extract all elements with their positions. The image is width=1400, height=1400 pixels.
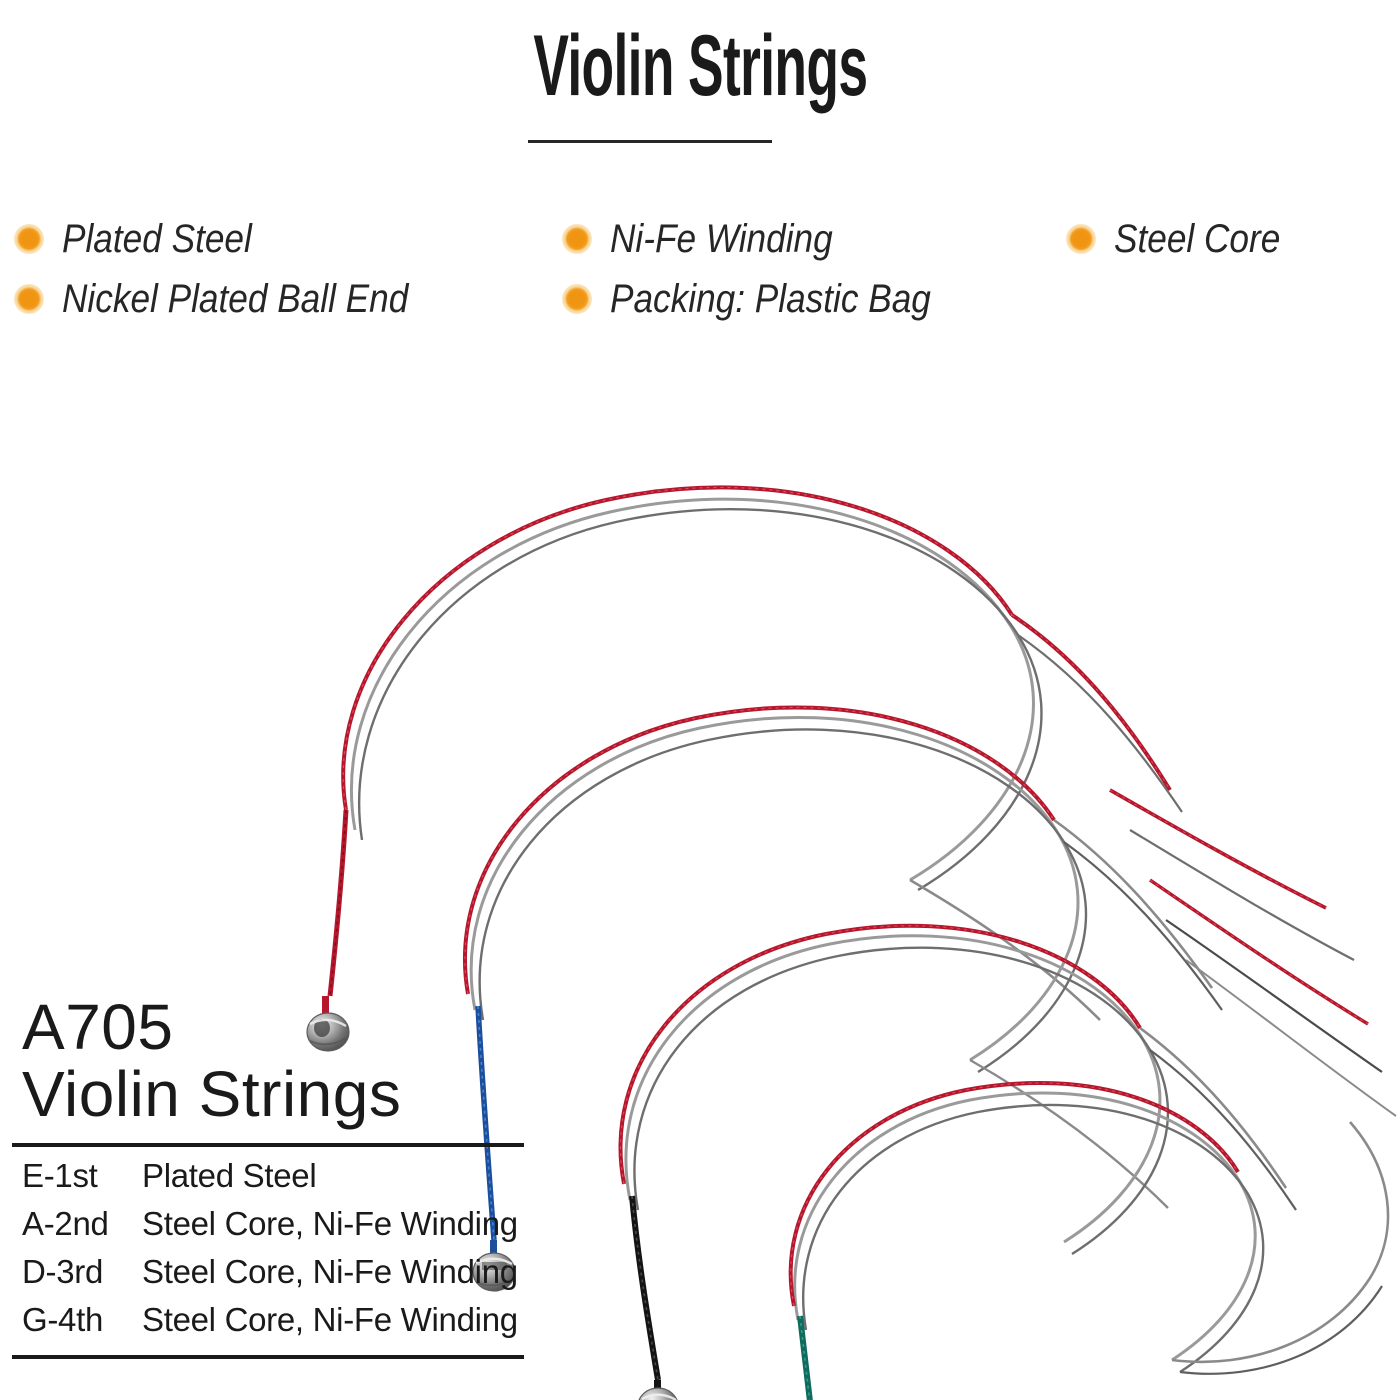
orange-dot-icon	[562, 284, 592, 314]
orange-dot-icon	[1066, 224, 1096, 254]
spec-material-label: Plated Steel	[142, 1157, 316, 1195]
string-free-tails	[1110, 790, 1396, 1116]
title-block: Violin Strings	[0, 26, 1400, 108]
spec-row: A-2nd Steel Core, Ni-Fe Winding	[22, 1205, 532, 1253]
spec-row: E-1st Plated Steel	[22, 1157, 532, 1205]
feature-item-plated-steel: Plated Steel	[14, 219, 278, 259]
feature-item-packing: Packing: Plastic Bag	[562, 279, 975, 319]
title-underline	[528, 140, 772, 143]
orange-dot-icon	[14, 224, 44, 254]
spec-material-label: Steel Core, Ni-Fe Winding	[142, 1205, 518, 1243]
feature-label: Plated Steel	[62, 219, 252, 259]
spec-string-label: E-1st	[22, 1157, 142, 1195]
string-coil-e-1st	[307, 487, 1182, 1051]
product-name: Violin Strings	[12, 1059, 532, 1131]
orange-dot-icon	[562, 224, 592, 254]
info-divider-bottom	[12, 1355, 524, 1359]
orange-dot-icon	[14, 284, 44, 314]
page-title: Violin Strings	[533, 26, 867, 108]
spec-row: G-4th Steel Core, Ni-Fe Winding	[22, 1301, 532, 1349]
feature-label: Nickel Plated Ball End	[62, 279, 408, 319]
spec-table: E-1st Plated Steel A-2nd Steel Core, Ni-…	[12, 1157, 532, 1349]
feature-item-ni-fe-winding: Ni-Fe Winding	[562, 219, 863, 259]
ball-end-d	[638, 1380, 678, 1400]
feature-list: Plated Steel Nickel Plated Ball End Ni-F…	[0, 205, 1400, 335]
string-coil-d-3rd	[621, 926, 1296, 1400]
feature-label: Ni-Fe Winding	[610, 219, 833, 259]
feature-item-steel-core: Steel Core	[1066, 219, 1303, 259]
spec-string-label: A-2nd	[22, 1205, 142, 1243]
info-divider-top	[12, 1143, 524, 1147]
spec-row: D-3rd Steel Core, Ni-Fe Winding	[22, 1253, 532, 1301]
product-code: A705	[12, 995, 532, 1059]
spec-material-label: Steel Core, Ni-Fe Winding	[142, 1301, 518, 1339]
spec-string-label: D-3rd	[22, 1253, 142, 1291]
product-info-block: A705 Violin Strings E-1st Plated Steel A…	[12, 995, 532, 1359]
feature-label: Packing: Plastic Bag	[610, 279, 931, 319]
feature-item-nickel-plated-ball-end: Nickel Plated Ball End	[14, 279, 456, 319]
feature-label: Steel Core	[1114, 219, 1280, 259]
product-graphic-page: Violin Strings Plated Steel Nickel Plate…	[0, 0, 1400, 1400]
spec-string-label: G-4th	[22, 1301, 142, 1339]
spec-material-label: Steel Core, Ni-Fe Winding	[142, 1253, 518, 1291]
